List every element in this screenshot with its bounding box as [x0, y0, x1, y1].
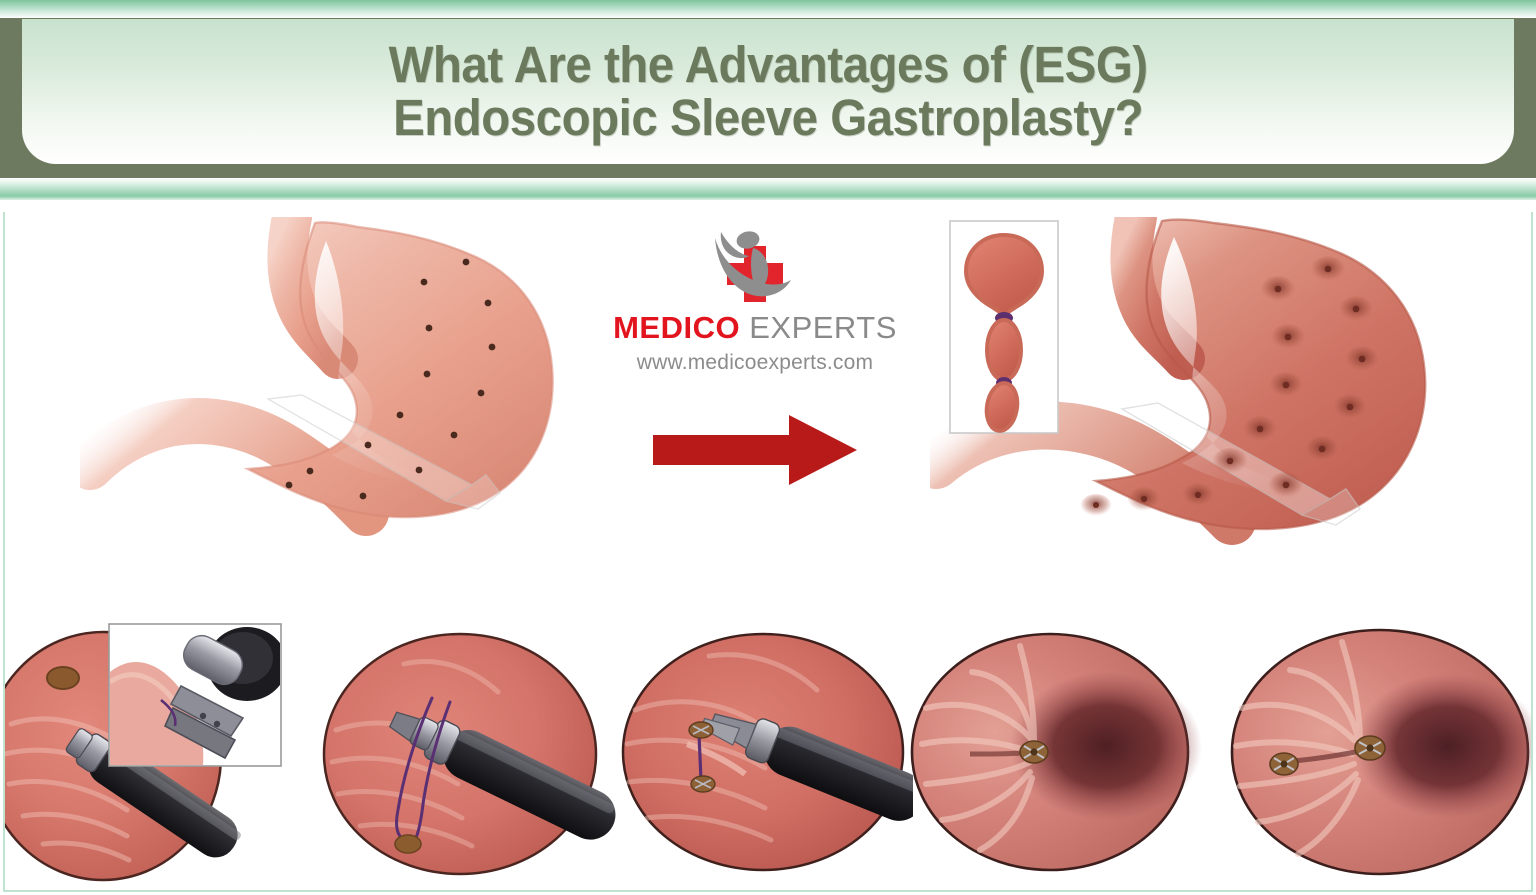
infographic-page: What Are the Advantages of (ESG) Endosco…: [0, 0, 1536, 895]
page-title: What Are the Advantages of (ESG) Endosco…: [361, 39, 1176, 143]
content-canvas: MEDICO EXPERTS www.medicoexperts.com: [3, 212, 1533, 892]
medico-experts-logo-icon: [691, 224, 819, 308]
logo-wordmark: MEDICO EXPERTS: [613, 310, 897, 346]
bottom-accent-strip: [0, 178, 1536, 200]
stomach-comparison-row: MEDICO EXPERTS www.medicoexperts.com: [5, 212, 1533, 602]
stomach-after-illustration: [930, 217, 1450, 557]
suture-cinching-view: [613, 612, 913, 890]
suture-device-closeup-inset: [109, 624, 287, 766]
logo-website-url[interactable]: www.medicoexperts.com: [637, 351, 873, 375]
center-column: MEDICO EXPERTS www.medicoexperts.com: [580, 212, 930, 542]
single-cinched-suture-view: [910, 612, 1210, 890]
transformation-arrow-icon: [649, 409, 861, 491]
logo-name-primary: MEDICO: [613, 310, 740, 345]
title-panel: What Are the Advantages of (ESG) Endosco…: [22, 19, 1514, 164]
logo-name-secondary: EXPERTS: [740, 310, 897, 345]
procedure-steps-row: [5, 612, 1533, 890]
suture-thread-placement-view: [320, 612, 620, 890]
endoscope-suture-device-view: [3, 612, 305, 890]
sleeve-cross-section-inset: [950, 221, 1058, 433]
double-cinched-suture-view: [1220, 612, 1533, 890]
brand-logo[interactable]: MEDICO EXPERTS www.medicoexperts.com: [590, 224, 920, 375]
top-accent-strip: [0, 0, 1536, 18]
header-banner: What Are the Advantages of (ESG) Endosco…: [0, 0, 1536, 212]
stomach-before-illustration: [80, 217, 580, 557]
